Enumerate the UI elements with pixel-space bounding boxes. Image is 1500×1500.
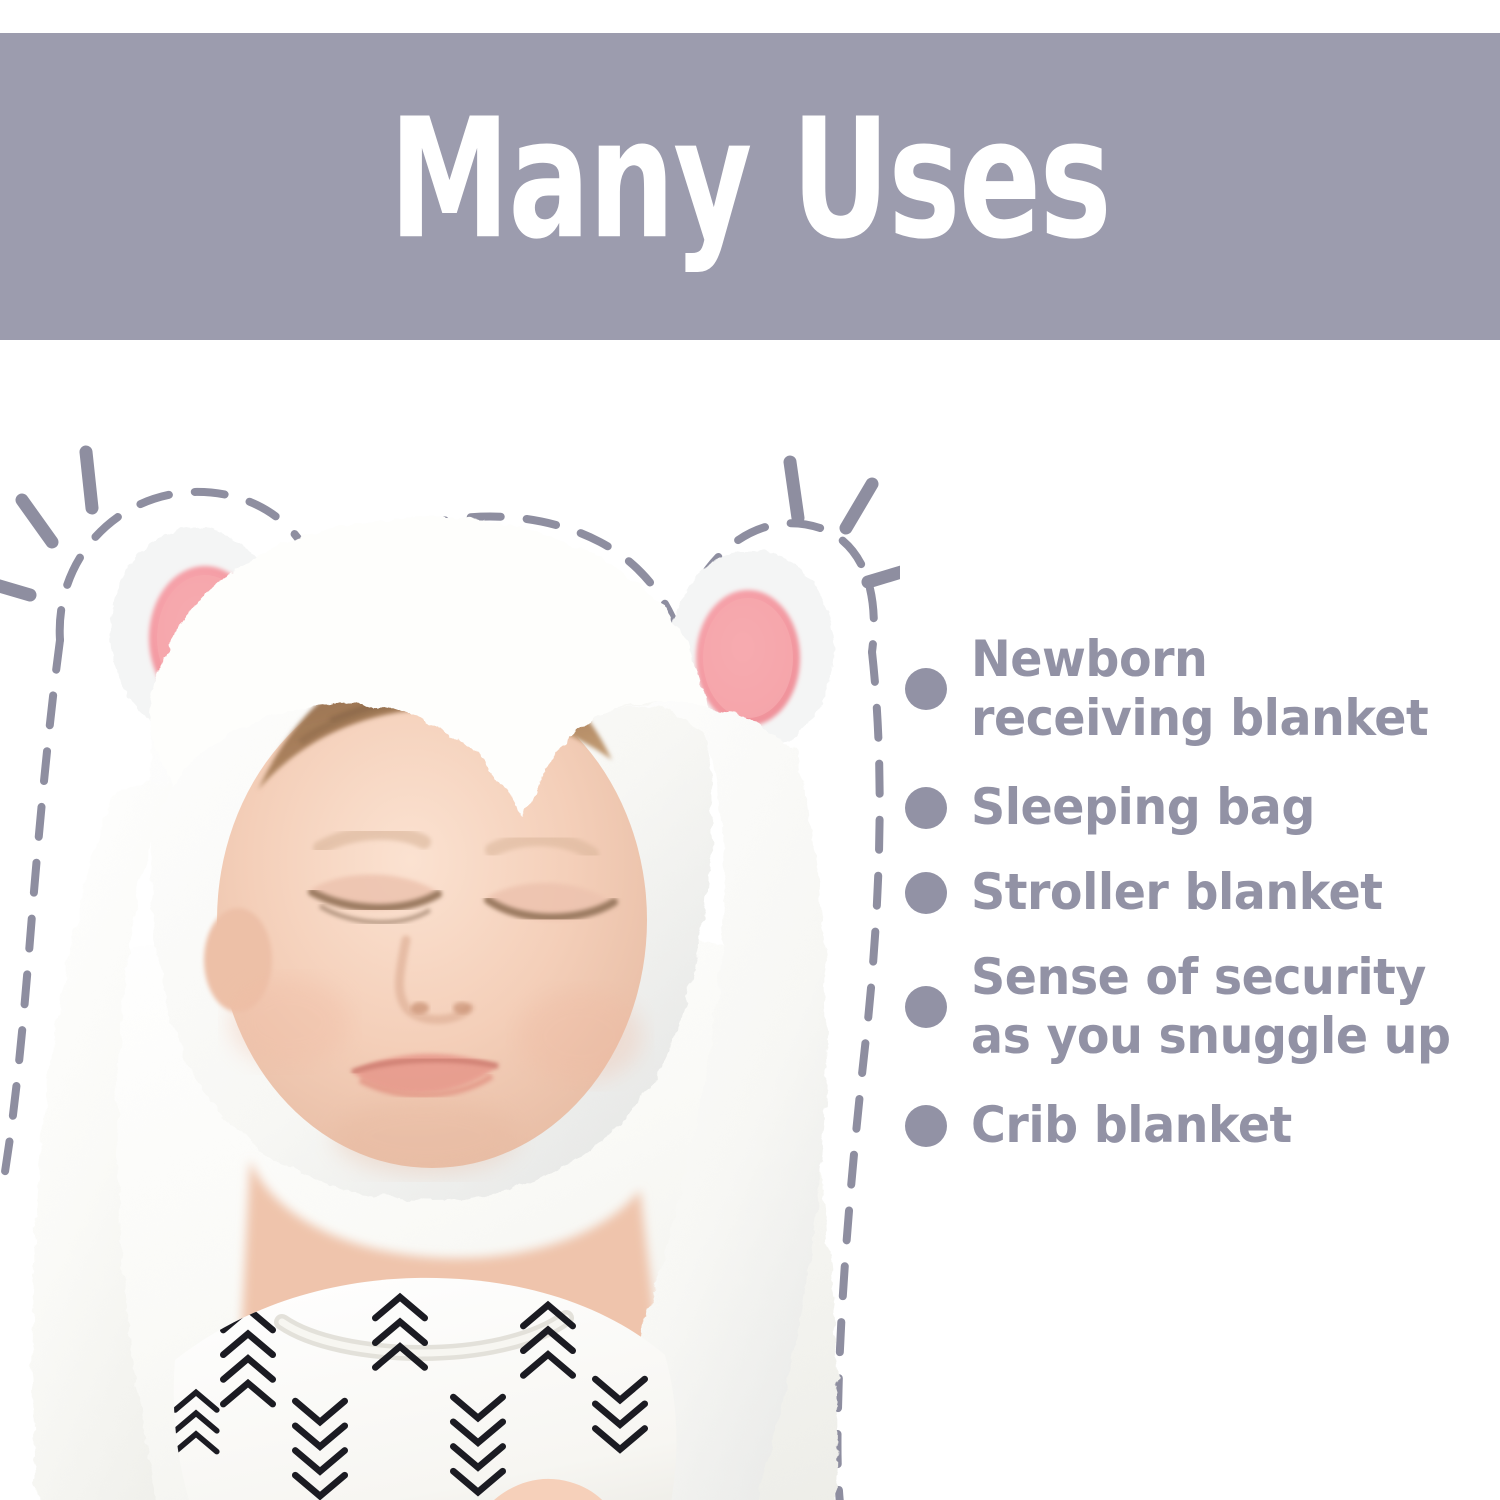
use-label: Sense of security as you snuggle up [971, 948, 1459, 1066]
bullet-icon [905, 986, 947, 1028]
bullet-icon [905, 668, 947, 710]
list-item[interactable]: Sense of security as you snuggle up [905, 948, 1485, 1066]
list-item[interactable]: Crib blanket [905, 1096, 1485, 1155]
bullet-icon [905, 1105, 947, 1147]
baby-blanket-illustration [0, 400, 900, 1500]
uses-list: Newborn receiving blanket Sleeping bag S… [905, 630, 1485, 1181]
use-label: Crib blanket [971, 1096, 1292, 1155]
sparkle-lines-left [0, 452, 92, 595]
use-label: Newborn receiving blanket [971, 630, 1459, 748]
list-item[interactable]: Sleeping bag [905, 778, 1485, 837]
bullet-icon [905, 787, 947, 829]
product-photo [0, 400, 900, 1500]
list-item[interactable]: Newborn receiving blanket [905, 630, 1485, 748]
infographic-page: Many Uses [0, 0, 1500, 1500]
header-banner: Many Uses [0, 33, 1500, 340]
use-label: Sleeping bag [971, 778, 1315, 837]
page-title: Many Uses [390, 96, 1111, 277]
use-label: Stroller blanket [971, 863, 1383, 922]
bullet-icon [905, 872, 947, 914]
list-item[interactable]: Stroller blanket [905, 863, 1485, 922]
